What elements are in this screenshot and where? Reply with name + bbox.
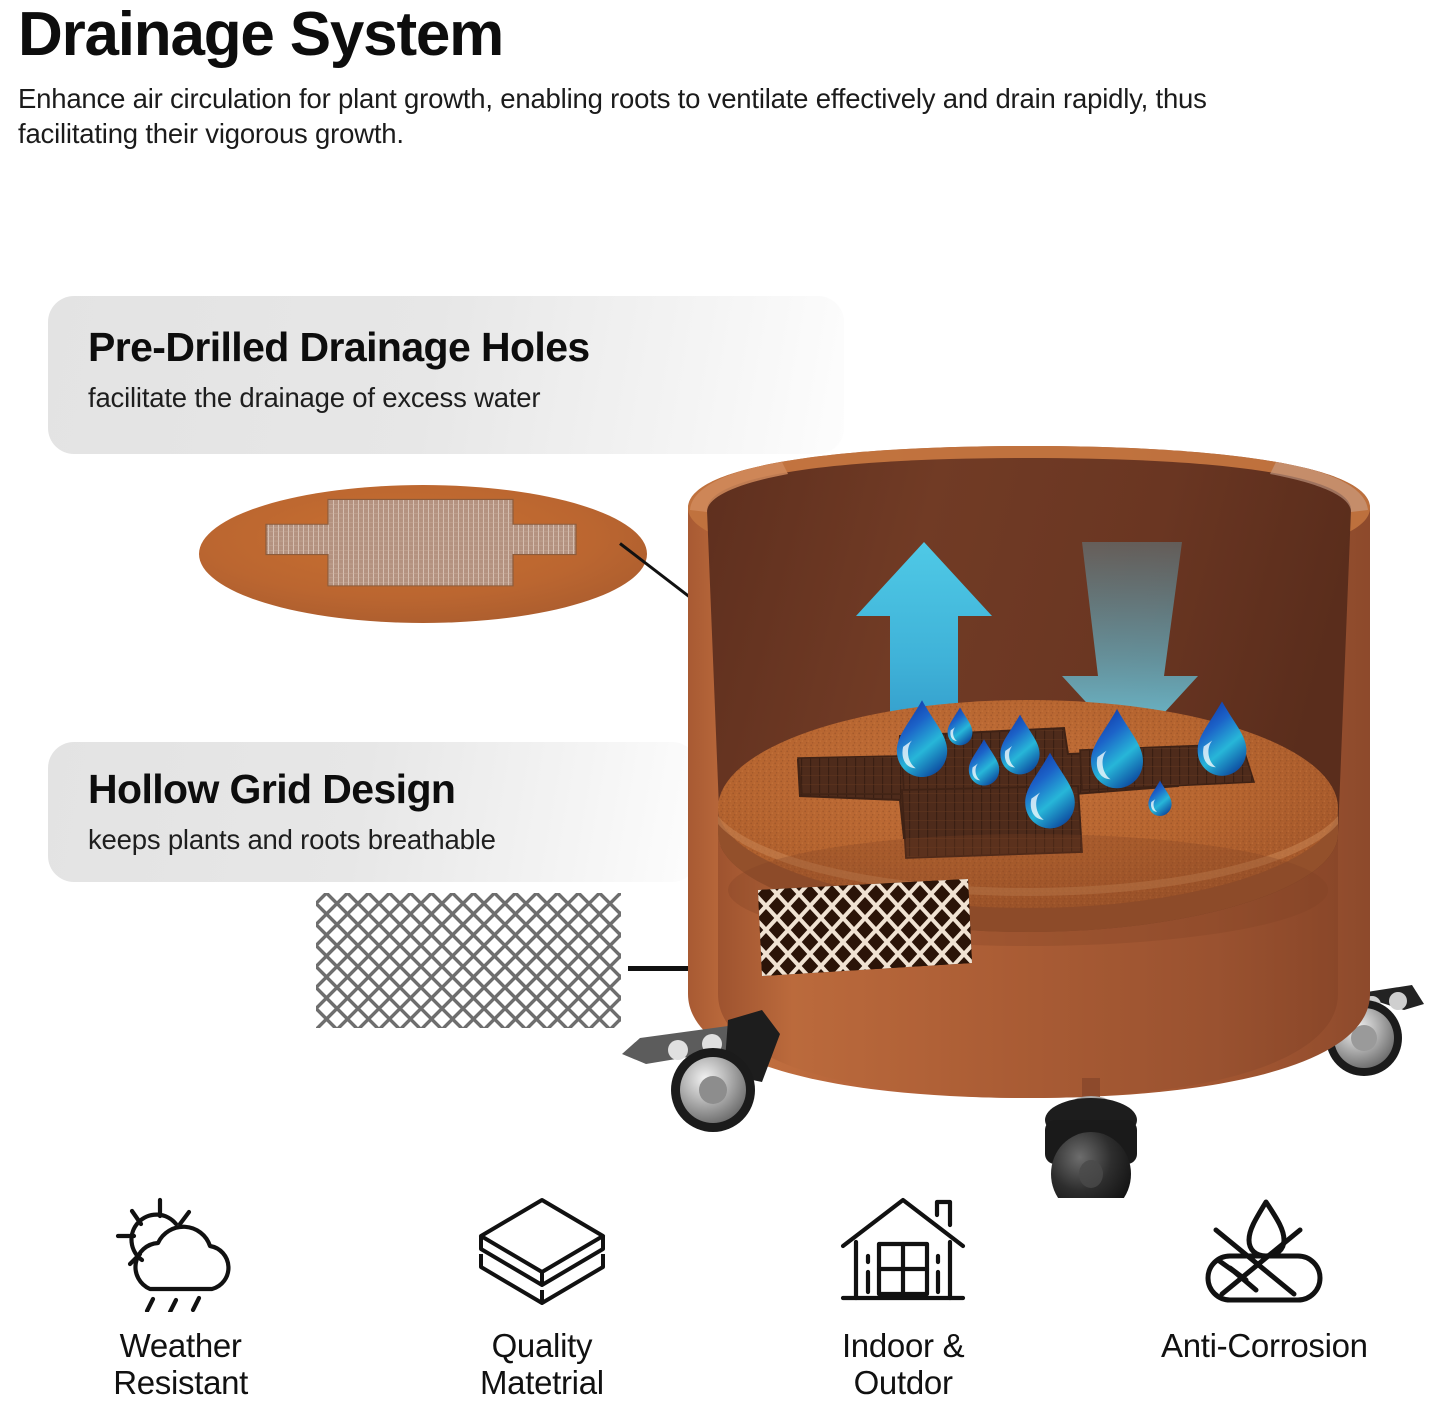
callout-title-hollow-grid: Hollow Grid Design (88, 768, 698, 811)
caster-left (622, 1010, 780, 1132)
feature-label-weather-resistant: Weather Resistant (113, 1328, 248, 1402)
feature-weather-resistant: Weather Resistant (0, 1192, 361, 1414)
page-subtitle: Enhance air circulation for plant growth… (18, 81, 1288, 151)
feature-strip: Weather Resistant Quality Matetrial (0, 1192, 1445, 1414)
page-title: Drainage System (18, 2, 1348, 67)
feature-label-anti-corrosion: Anti-Corrosion (1161, 1328, 1368, 1365)
product-illustration-rolling-planter (612, 438, 1445, 1198)
layers-stack-icon (475, 1192, 609, 1314)
no-fire-log-icon (1194, 1192, 1334, 1314)
feature-label-quality-material: Quality Matetrial (480, 1328, 604, 1402)
callout-subtitle-hollow-grid: keeps plants and roots breathable (88, 824, 698, 856)
house-icon (837, 1192, 969, 1314)
weather-sun-cloud-rain-icon (106, 1192, 256, 1314)
feature-indoor-outdoor: Indoor & Outdor (723, 1192, 1084, 1414)
callout-card-hollow-grid: Hollow Grid Design keeps plants and root… (48, 742, 698, 882)
feature-anti-corrosion: Anti-Corrosion (1084, 1192, 1445, 1414)
diamond-mesh-swatch (316, 893, 621, 1028)
cross-drainage-grid-closeup (198, 484, 648, 624)
page-header: Drainage System Enhance air circulation … (18, 2, 1348, 151)
feature-quality-material: Quality Matetrial (361, 1192, 722, 1414)
callout-title-drainage-holes: Pre-Drilled Drainage Holes (88, 326, 844, 369)
callout-card-drainage-holes: Pre-Drilled Drainage Holes facilitate th… (48, 296, 844, 454)
feature-label-indoor-outdoor: Indoor & Outdor (842, 1328, 964, 1402)
callout-subtitle-drainage-holes: facilitate the drainage of excess water (88, 382, 844, 414)
